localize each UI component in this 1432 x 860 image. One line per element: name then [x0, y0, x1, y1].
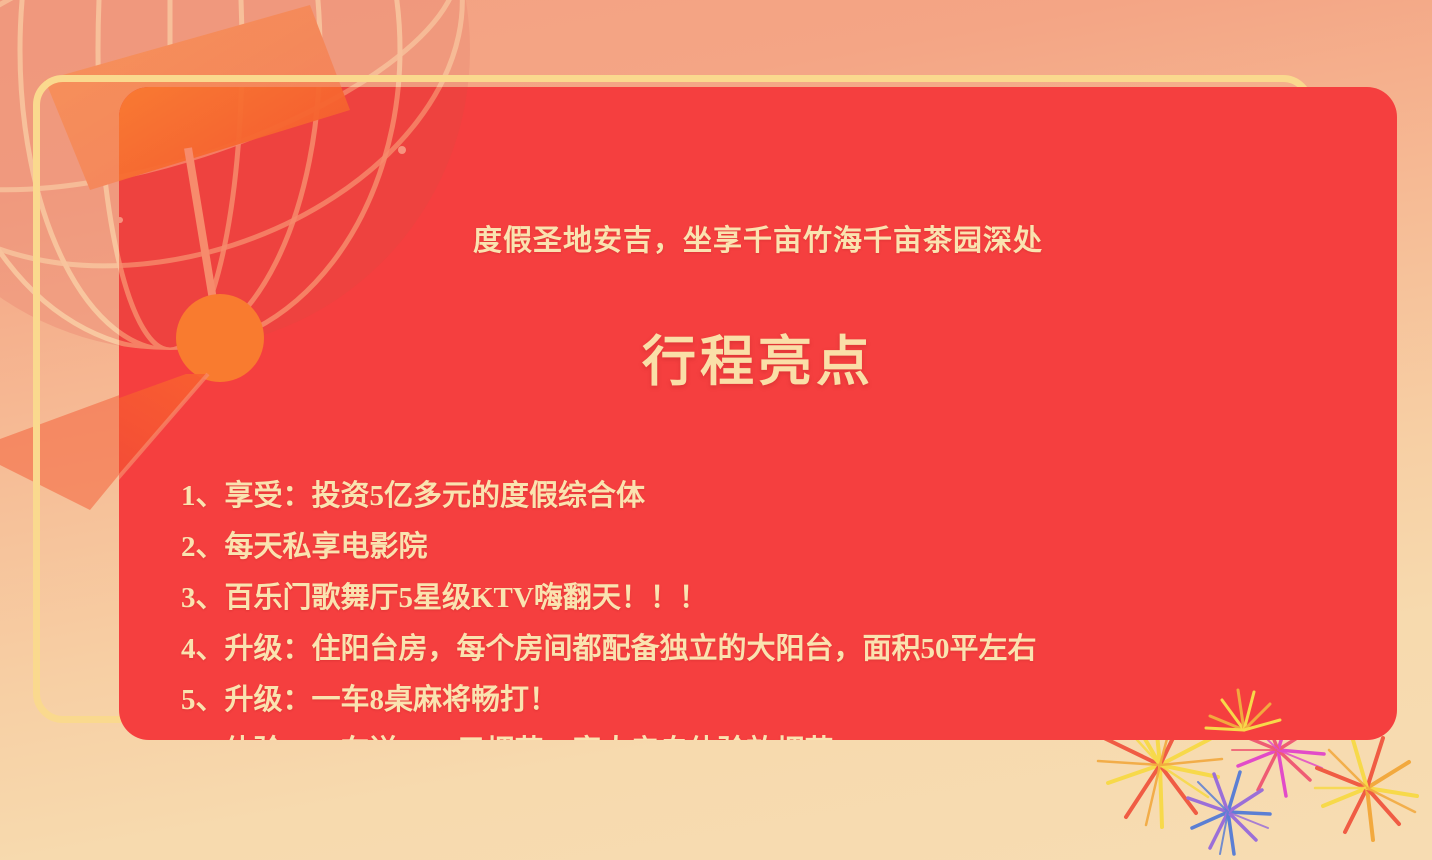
- poster-subtitle: 度假圣地安吉，坐享千亩竹海千亩茶园深处: [119, 217, 1397, 259]
- list-item: 4、升级：住阳台房，每个房间都配备独立的大阳台，面积50平左右: [181, 624, 1357, 675]
- firework-burst-blue-purple: [1188, 772, 1270, 854]
- highlights-list: 1、享受：投资5亿多元的度假综合体 2、每天私享电影院 3、百乐门歌舞厅5星级K…: [181, 471, 1357, 740]
- list-item: 6、体验：一车送1000元烟花，客人亲自体验放烟花: [181, 726, 1357, 740]
- card-content: 度假圣地安吉，坐享千亩竹海千亩茶园深处 行程亮点 1、享受：投资5亿多元的度假综…: [119, 87, 1397, 740]
- list-item: 2、每天私享电影院: [181, 522, 1357, 573]
- list-item: 3、百乐门歌舞厅5星级KTV嗨翻天！！！: [181, 573, 1357, 624]
- list-item: 1、享受：投资5亿多元的度假综合体: [181, 471, 1357, 522]
- page-title: 行程亮点: [119, 317, 1397, 396]
- list-item: 5、升级：一车8桌麻将畅打！: [181, 675, 1357, 726]
- firework-burst-orange-red: [1315, 738, 1417, 840]
- highlights-card: 度假圣地安吉，坐享千亩竹海千亩茶园深处 行程亮点 1、享受：投资5亿多元的度假综…: [119, 87, 1397, 740]
